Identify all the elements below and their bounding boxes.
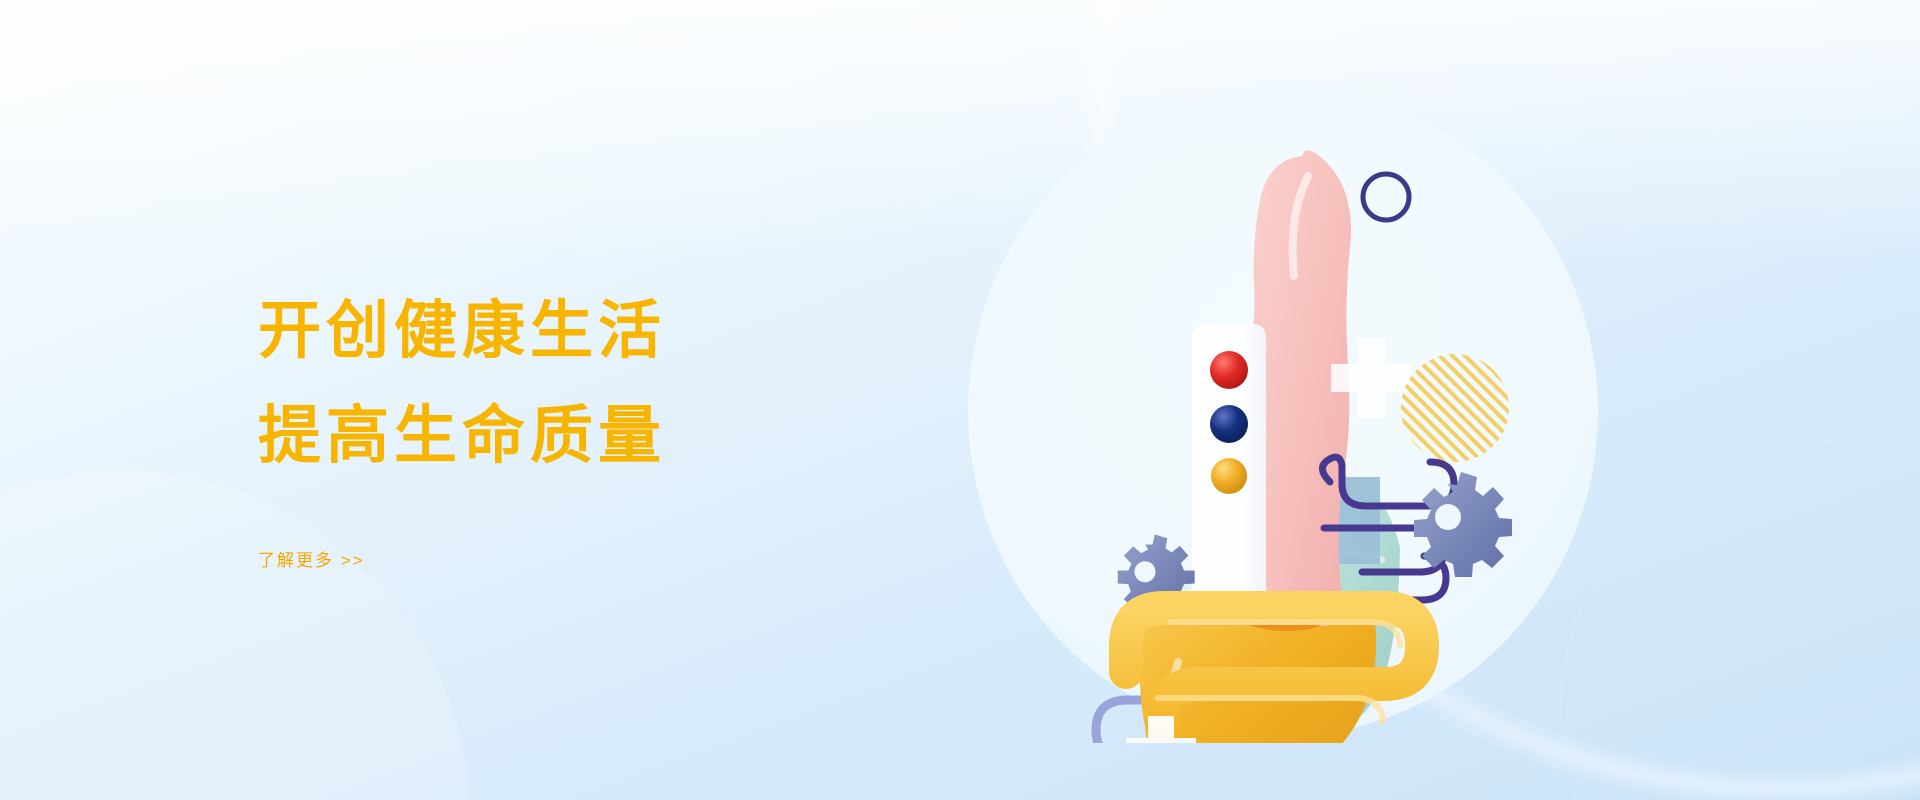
gear-large-icon	[1414, 472, 1512, 577]
digestive-system-illustration	[930, 78, 1630, 743]
test-tube-dot-navy-icon	[1210, 405, 1248, 443]
background-blob-bottom-right-inner	[1700, 560, 1920, 800]
learn-more-link[interactable]: 了解更多 >>	[258, 546, 365, 571]
test-tube-dot-yellow-icon	[1211, 458, 1247, 494]
illustration-svg	[930, 78, 1630, 743]
hero-copy: 开创健康生活 提高生命质量 了解更多 >>	[258, 300, 898, 571]
hero-banner: 开创健康生活 提高生命质量 了解更多 >>	[0, 0, 1920, 800]
headline-line-1: 开创健康生活	[258, 300, 898, 363]
headline-line-2: 提高生命质量	[258, 405, 898, 468]
circle-outline-icon	[1363, 174, 1409, 220]
test-tube-dot-red-icon	[1210, 351, 1248, 389]
striped-circle-icon	[1395, 348, 1520, 473]
